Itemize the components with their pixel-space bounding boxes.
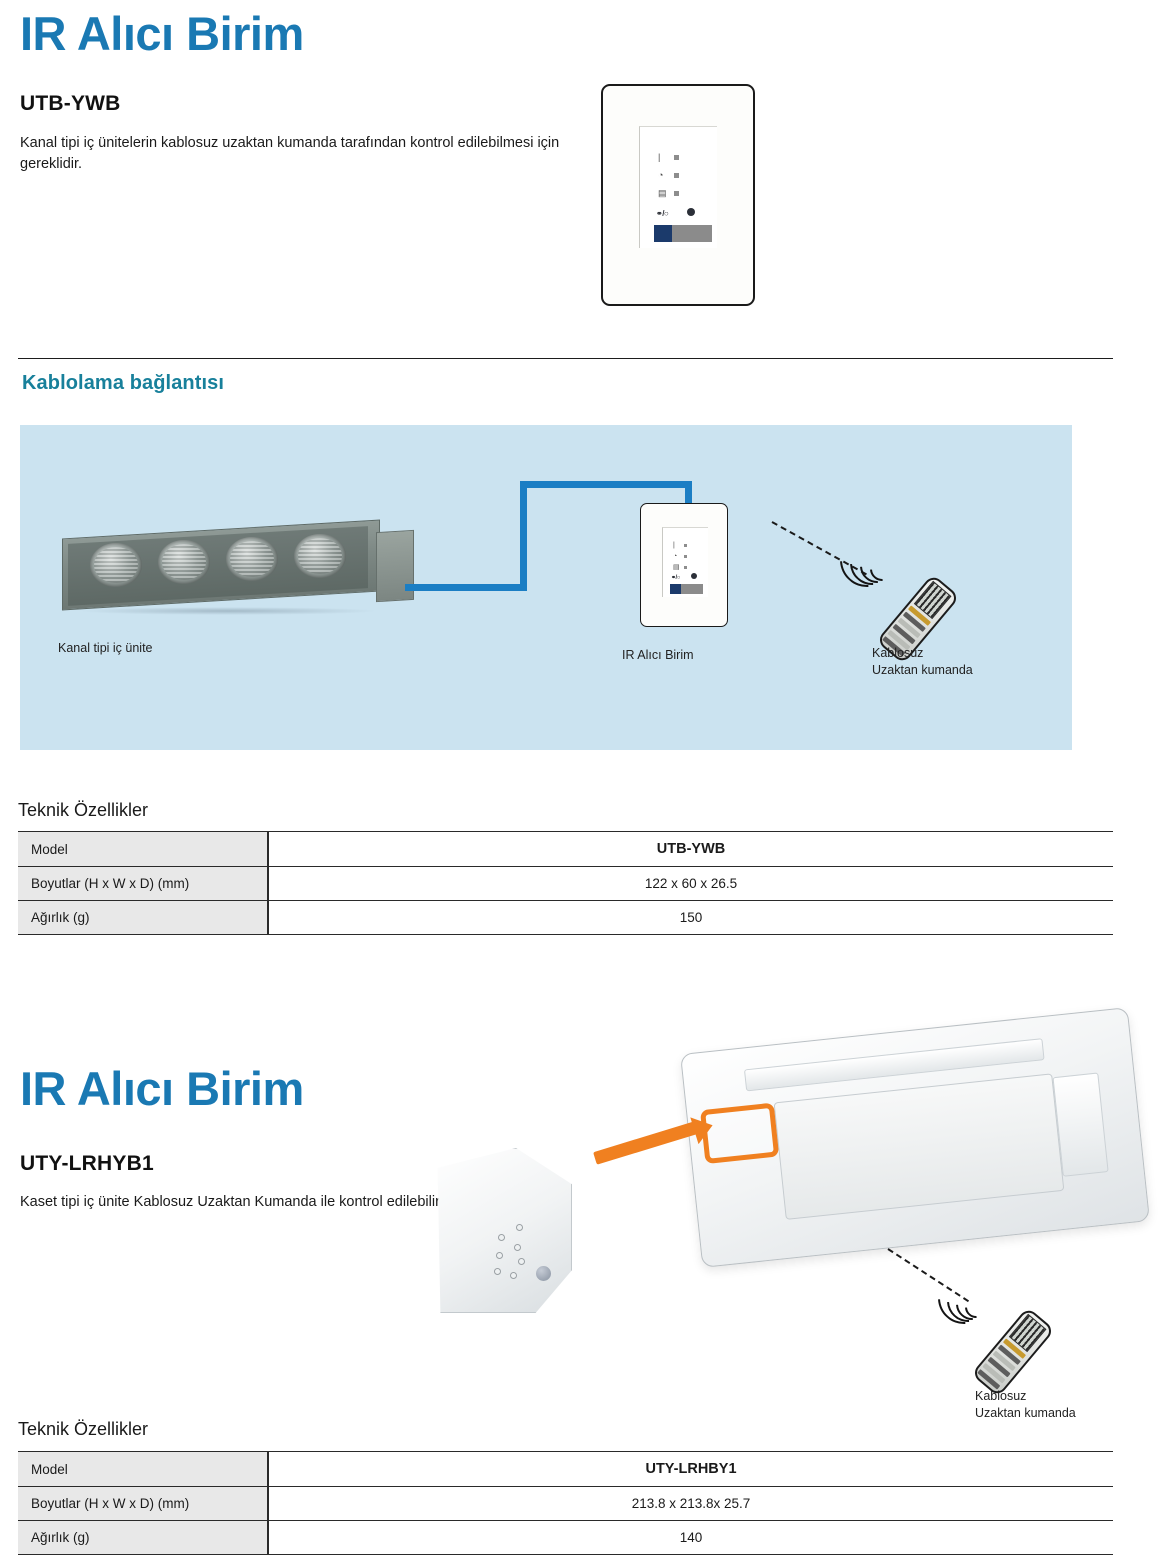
spec-label-weight: Ağırlık (g) [18,901,268,935]
spec2-value-dimensions: 213.8 x 213.8x 25.7 [268,1487,1113,1521]
spec2-value-weight: 140 [268,1521,1113,1555]
wiring-diagram-panel: Kanal tipi iç ünite | ◔ ▤ [20,425,1072,750]
section2-model-code: UTY-LRHYB1 [20,1152,154,1176]
diagram-led-row-2: ◔ [673,553,687,560]
section1-description: Kanal tipi iç ünitelerin kablosuz uzakta… [20,133,560,174]
diagram-timer-icon: ◔ [673,553,680,560]
table-row: Boyutlar (H x W x D) (mm) 122 x 60 x 26.… [18,867,1113,901]
module-led-3 [518,1258,525,1265]
ir-receiver-module-image [432,1148,572,1313]
table-row: Ağırlık (g) 140 [18,1521,1113,1555]
diagram-label-receiver: IR Alıcı Birim [622,647,694,664]
section2-spec-heading: Teknik Özellikler [18,1419,148,1440]
receiver-button[interactable] [654,225,672,242]
table-row: Model UTB-YWB [18,832,1113,867]
install-arrow-shaft [593,1121,700,1165]
brand-mark-icon: ⚭/○ [656,209,668,218]
section2-spec-table: Model UTY-LRHBY1 Boyutlar (H x W x D) (m… [18,1451,1113,1555]
module-led-1 [498,1234,505,1241]
section2-page-title: IR Alıcı Birim [20,1065,304,1112]
product-datasheet-page: IR Alıcı Birim UTB-YWB Kanal tipi iç üni… [0,0,1164,1565]
cable-segment-horizontal-1 [405,584,527,591]
economy-led-dot [674,191,679,196]
table-row: Boyutlar (H x W x D) (mm) 213.8 x 213.8x… [18,1487,1113,1521]
duct-shadow [78,607,378,615]
table-row: Model UTY-LRHBY1 [18,1452,1113,1487]
module-led-timer-icon [514,1244,521,1251]
section1-product-photo: | ◔ ▤ ⚭/○ [601,84,755,306]
cable-segment-horizontal-2 [520,481,692,488]
timer-icon: ◔ [658,171,668,180]
spec-value-model: UTB-YWB [268,832,1113,867]
led-row-economy: ▤ [658,189,679,198]
duct-indoor-unit-image [62,515,412,620]
timer-led-dot [674,173,679,178]
operation-icon: | [658,153,668,162]
table-row: Ağırlık (g) 150 [18,901,1113,935]
duct-fan-2 [158,540,210,584]
diagram-led-row-3: ▤ [673,564,687,571]
section1-spec-table: Model UTB-YWB Boyutlar (H x W x D) (mm) … [18,831,1113,935]
diagram-receiver-inner: | ◔ ▤ ⚭/○ [662,527,708,597]
duct-fan-3 [226,537,278,581]
led-row-timer: ◔ [658,171,679,180]
led-row-operation: | [658,153,679,162]
diagram-brand-icon: ⚭/○ [671,574,680,581]
cable-segment-vertical-1 [520,481,527,591]
diagram-led-dot-3 [684,566,687,569]
section2-description: Kaset tipi iç ünite Kablosuz Uzaktan Kum… [20,1192,490,1213]
section1-model-code: UTB-YWB [20,92,121,116]
economy-icon: ▤ [658,189,668,198]
wiring-section-heading: Kablolama bağlantısı [22,372,224,395]
cassette-indoor-unit-image [680,1007,1150,1268]
diagram-led-dot-2 [684,555,687,558]
diagram-receiver-unit: | ◔ ▤ ⚭/○ [640,503,728,627]
spec-label-model: Model [18,832,268,867]
spec2-label-model: Model [18,1452,268,1487]
section-divider-rule [18,358,1113,359]
duct-end-panel [376,530,414,602]
section1-page-title: IR Alıcı Birim [20,10,304,57]
module-led-fan-icon [516,1224,523,1231]
diagram-receiver-button[interactable] [670,584,681,594]
diagram-brand-dot-icon [691,573,697,579]
spec-value-dimensions: 122 x 60 x 26.5 [268,867,1113,901]
diagram-label-indoor-unit: Kanal tipi iç ünite [58,640,153,657]
section1-spec-heading: Teknik Özellikler [18,800,148,821]
diagram-operation-icon: | [673,542,680,549]
diagram-economy-icon: ▤ [673,564,680,571]
spec-value-weight: 150 [268,901,1113,935]
spec2-label-dimensions: Boyutlar (H x W x D) (mm) [18,1487,268,1521]
wireless-remote-control-2[interactable] [971,1307,1055,1398]
spec2-label-weight: Ağırlık (g) [18,1521,268,1555]
brand-dot-icon [687,208,695,216]
operation-led-dot [674,155,679,160]
spec2-value-model: UTY-LRHBY1 [268,1452,1113,1487]
module-ir-sensor [536,1266,551,1281]
diagram-led-row-1: | [673,542,687,549]
diagram-label-remote-2: Kablosuz Uzaktan kumanda [975,1388,1076,1422]
receiver-inner-panel: | ◔ ▤ ⚭/○ [639,126,717,248]
diagram-label-remote: Kablosuz Uzaktan kumanda [872,645,973,679]
ir-module-shell [432,1148,572,1313]
duct-fan-4 [294,534,346,578]
duct-fan-1 [90,543,142,587]
spec-label-dimensions: Boyutlar (H x W x D) (mm) [18,867,268,901]
diagram-led-dot-1 [684,544,687,547]
module-led-4 [494,1268,501,1275]
module-led-2 [496,1252,503,1259]
module-led-5 [510,1272,517,1279]
